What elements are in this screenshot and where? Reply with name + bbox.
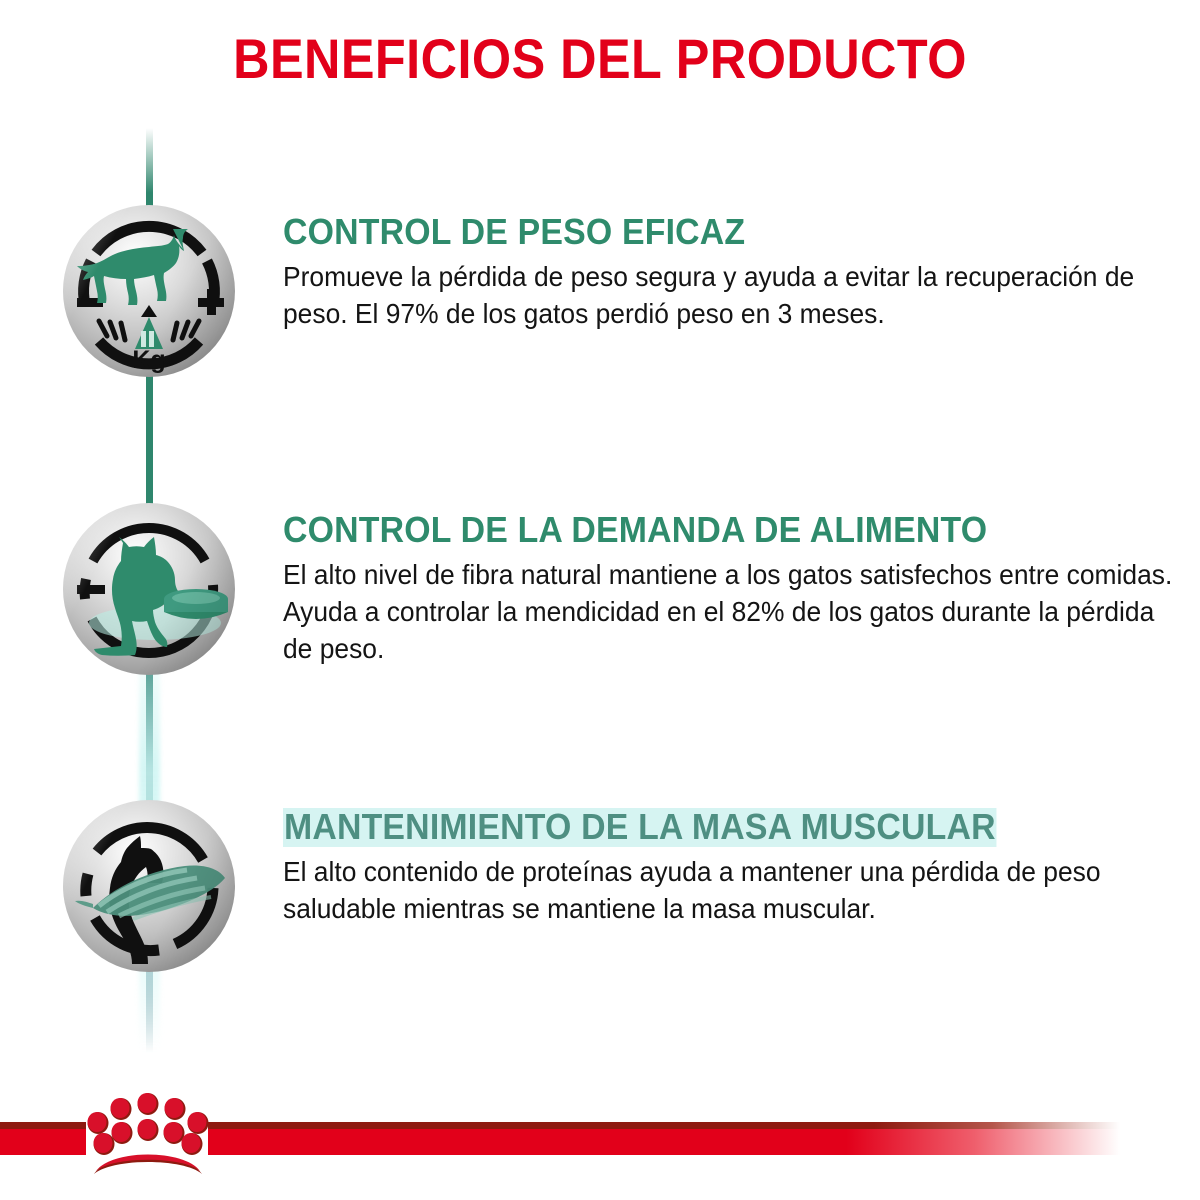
benefit-icon-3 xyxy=(63,800,235,972)
product-benefits-page: BENEFICIOS DEL PRODUCTO xyxy=(0,0,1200,1200)
footer-bar-right-shadow xyxy=(208,1122,1120,1129)
royal-canin-crown-logo xyxy=(84,1092,212,1178)
benefit-heading-2: CONTROL DE LA DEMANDA DE ALIMENTO xyxy=(283,511,1124,550)
footer-bar-right xyxy=(208,1129,1120,1155)
benefit-heading-3: MANTENIMIENTO DE LA MASA MUSCULAR xyxy=(283,808,997,847)
benefit-icon-1: Kg xyxy=(63,205,235,377)
weight-scale-cat-icon: Kg xyxy=(63,205,235,377)
footer-bar-left-shadow xyxy=(0,1122,86,1129)
cat-begging-food-bowl-icon xyxy=(63,503,235,675)
benefit-heading-1: CONTROL DE PESO EFICAZ xyxy=(283,213,1124,252)
benefit-body-3: El alto contenido de proteínas ayuda a m… xyxy=(283,854,1176,928)
svg-text:Kg: Kg xyxy=(132,346,165,374)
benefit-body-2: El alto nivel de fibra natural mantiene … xyxy=(283,557,1176,668)
footer-bar-left xyxy=(0,1129,86,1155)
page-title: BENEFICIOS DEL PRODUCTO xyxy=(60,26,1140,91)
benefit-copy-3: MANTENIMIENTO DE LA MASA MUSCULAR El alt… xyxy=(283,808,1178,928)
benefit-body-1: Promueve la pérdida de peso segura y ayu… xyxy=(283,259,1176,333)
muscle-fiber-cat-icon xyxy=(63,800,235,972)
benefit-copy-1: CONTROL DE PESO EFICAZ Promueve la pérdi… xyxy=(283,213,1178,333)
benefit-icon-2 xyxy=(63,503,235,675)
benefit-copy-2: CONTROL DE LA DEMANDA DE ALIMENTO El alt… xyxy=(283,511,1178,667)
